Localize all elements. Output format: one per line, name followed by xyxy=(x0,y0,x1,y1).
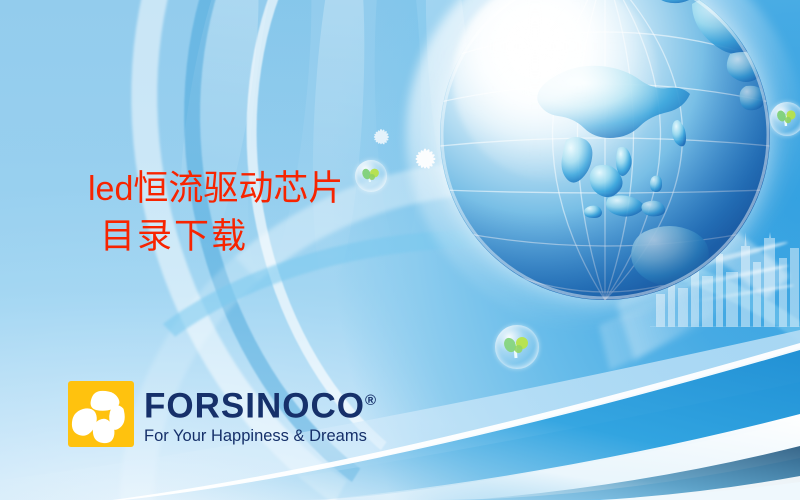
logo-wordmark-text: FORSINOCO xyxy=(144,387,365,426)
logo-tagline: For Your Happiness & Dreams xyxy=(144,426,376,446)
logo-wordmark: FORSINOCO® xyxy=(144,383,376,425)
promo-banner: led恒流驱动芯片 目录下载 FORSINOCO® For Your Happ xyxy=(0,0,800,500)
logo-text-block: FORSINOCO® For Your Happiness & Dreams xyxy=(144,383,376,446)
headline-latin-prefix: led xyxy=(88,170,133,208)
headline-line-1: led恒流驱动芯片 xyxy=(88,165,418,213)
headline-line-2: 目录下载 xyxy=(88,213,418,261)
registered-trademark-symbol: ® xyxy=(365,392,376,409)
forsinoco-logo[interactable]: FORSINOCO® For Your Happiness & Dreams xyxy=(68,381,376,447)
globe xyxy=(440,0,770,300)
bubble-sprout-right-icon xyxy=(770,102,800,136)
headline-cjk-text: 恒流驱动芯片 xyxy=(133,169,343,208)
forsinoco-pinwheel-mark-icon xyxy=(68,381,134,447)
headline-block: led恒流驱动芯片 目录下载 xyxy=(88,165,418,261)
sparkle-flower-b-icon xyxy=(368,124,394,150)
